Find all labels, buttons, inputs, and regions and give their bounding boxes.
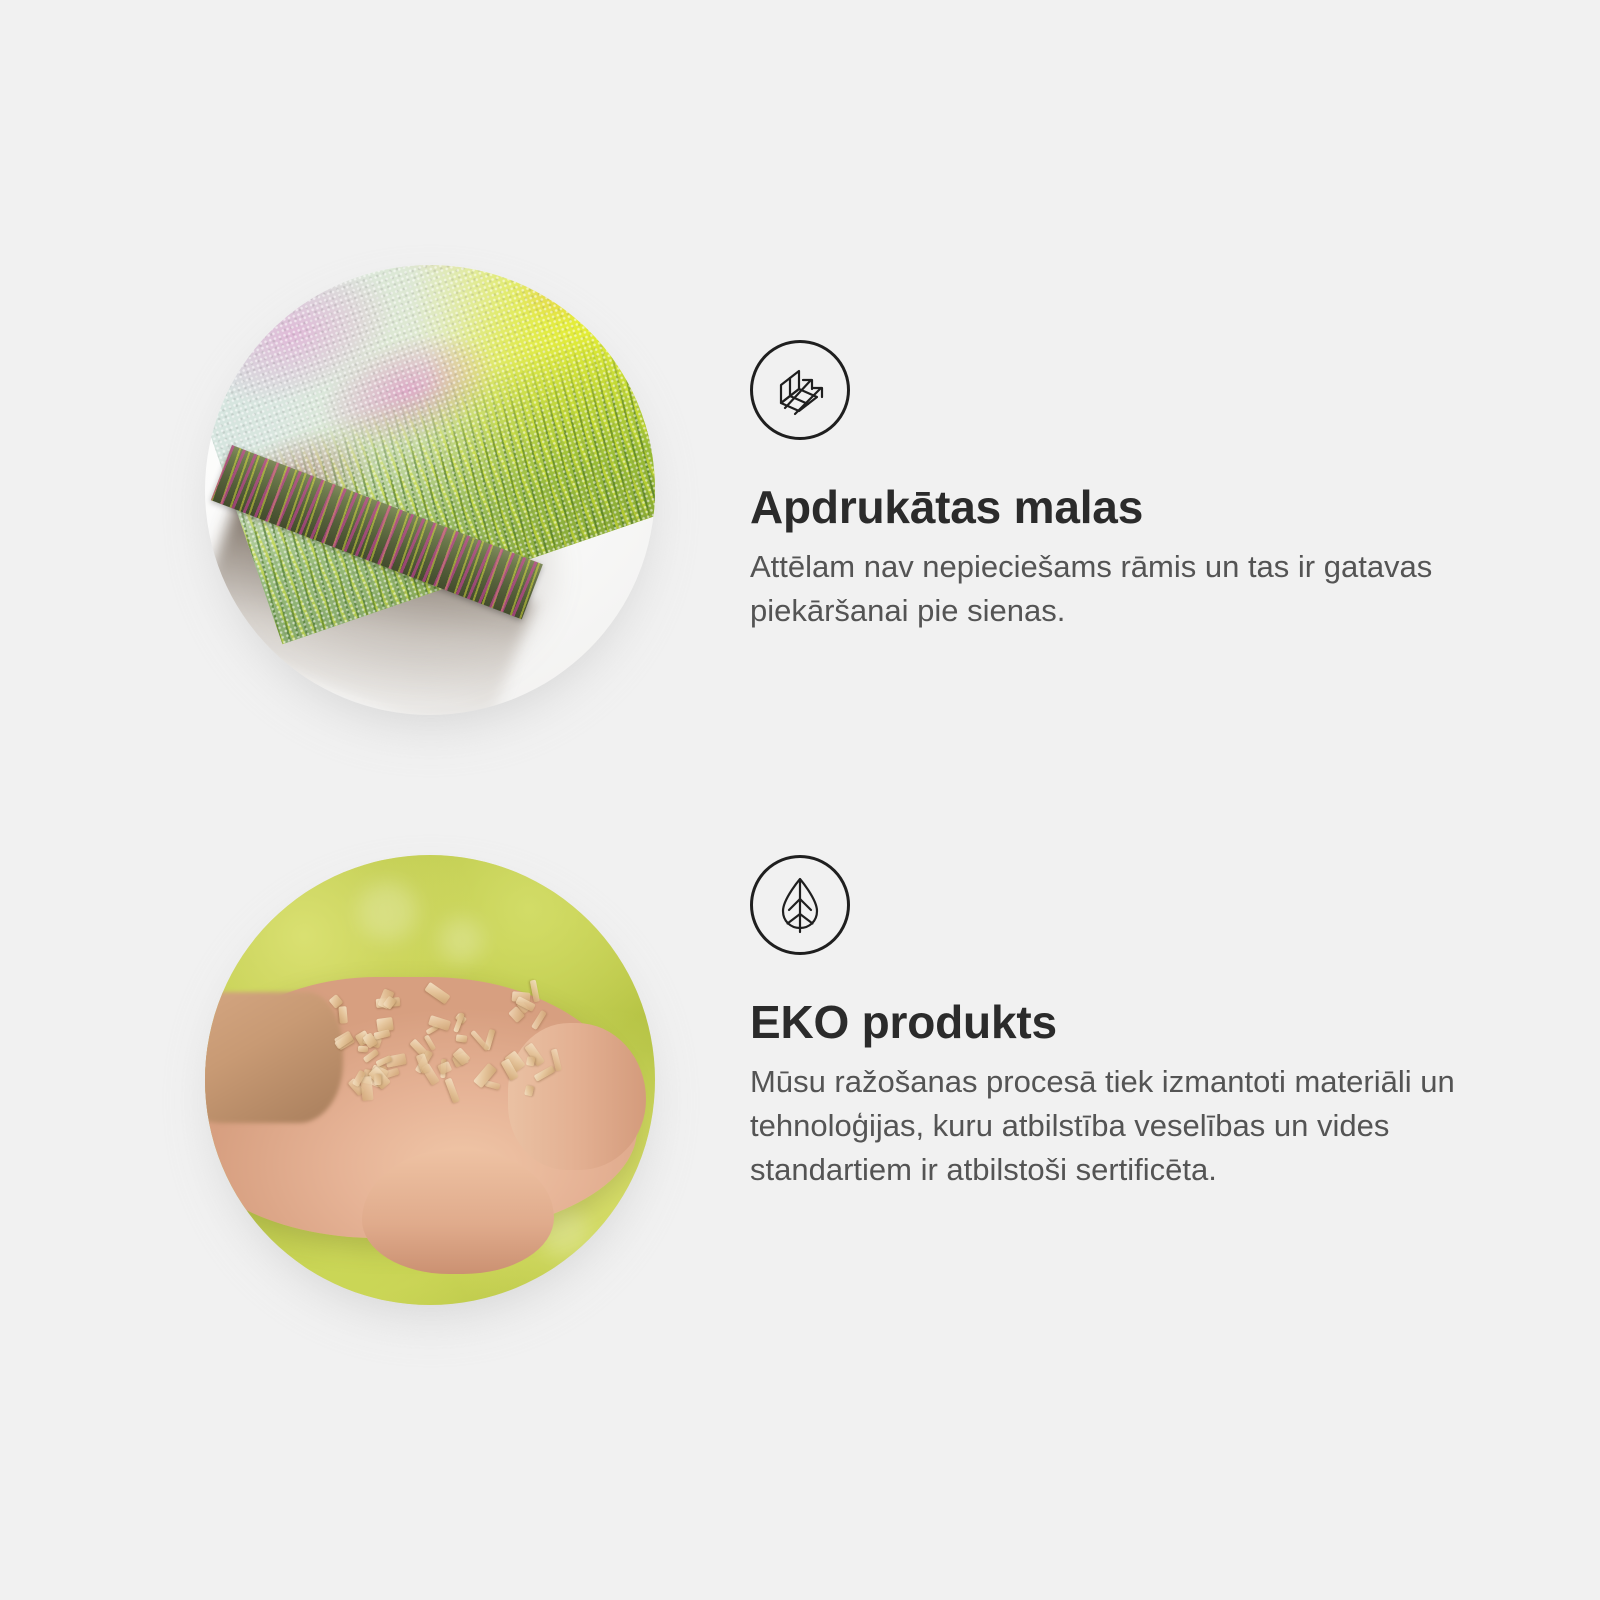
feature-title: Apdrukātas malas [750, 482, 1490, 533]
wood-chip [534, 1066, 556, 1083]
feature-text-column: EKO produkts Mūsu ražošanas procesā tiek… [750, 845, 1490, 1192]
wood-chip [531, 1010, 547, 1030]
wood-chip [455, 1034, 467, 1043]
wood-chip [424, 981, 450, 1003]
canvas-scene [205, 265, 655, 715]
bokeh-highlight [439, 918, 484, 963]
wood-chip [437, 1061, 452, 1075]
wood-chip [374, 1029, 392, 1040]
feature-list-page: Apdrukātas malas Attēlam nav nepieciešam… [0, 0, 1600, 1600]
canvas-weave-texture [205, 265, 655, 644]
feature-text-column: Apdrukātas malas Attēlam nav nepieciešam… [750, 255, 1490, 633]
feature-title: EKO produkts [750, 997, 1490, 1048]
canvas-print-face [205, 265, 655, 644]
wood-chip [374, 1074, 381, 1085]
wrist [205, 992, 343, 1123]
thumb [362, 1149, 555, 1274]
wood-chip [358, 1045, 369, 1051]
wood-chip [524, 1086, 534, 1097]
feature-description: Attēlam nav nepieciešams rāmis un tas ir… [750, 545, 1470, 633]
wood-chip [445, 1078, 460, 1103]
canvas-wrapped-edge-icon [750, 340, 850, 440]
wood-chip [339, 1006, 348, 1023]
leaf-icon [750, 855, 850, 955]
photo-circle-mask [205, 265, 655, 715]
eco-wood-chips-photo [205, 855, 655, 1305]
feature-description: Mūsu ražošanas procesā tiek izmantoti ma… [750, 1060, 1470, 1192]
photo-circle-mask [205, 855, 655, 1305]
wood-chip [526, 1056, 536, 1067]
canvas-print-corner-photo [205, 265, 655, 715]
eco-scene [205, 855, 655, 1305]
wood-chip [360, 1076, 373, 1101]
wood-chip [530, 979, 540, 1002]
bokeh-highlight [358, 882, 417, 941]
wood-chips-pile [331, 986, 583, 1121]
